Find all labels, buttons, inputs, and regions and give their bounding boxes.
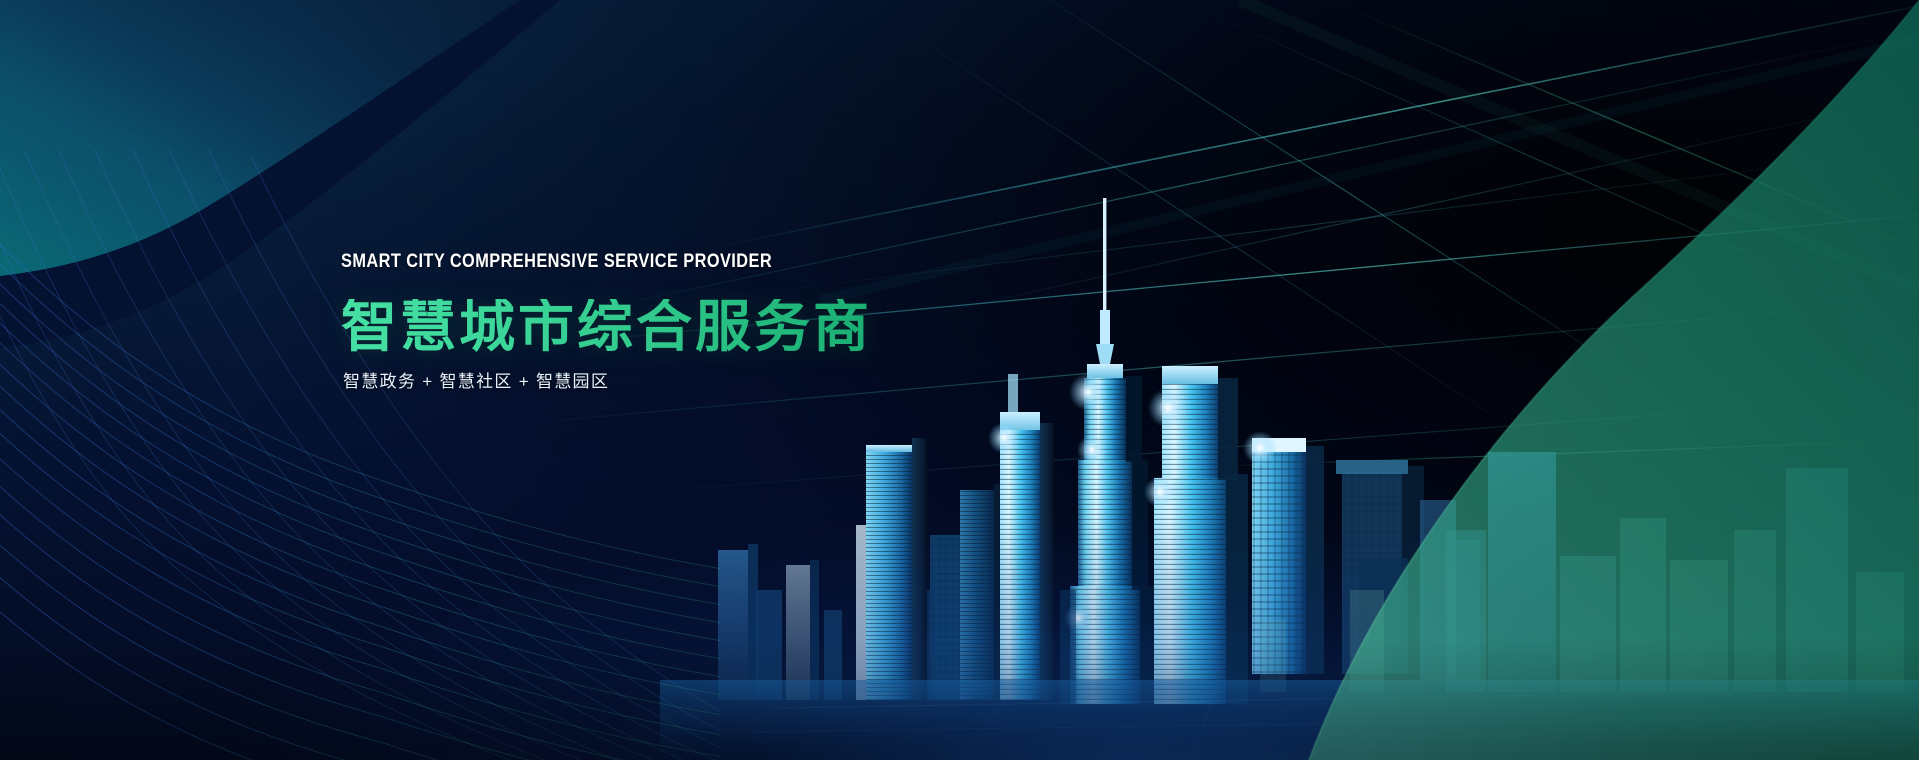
hero-eyebrow-text: SMART CITY COMPREHENSIVE SERVICE PROVIDE… [341, 252, 798, 271]
hero-text-block: SMART CITY COMPREHENSIVE SERVICE PROVIDE… [341, 252, 872, 390]
contour-mesh-decoration [0, 150, 720, 760]
midground-buildings-left [866, 438, 1006, 700]
green-curve-overlay [1159, 0, 1919, 760]
hero-headline: 智慧城市综合服务商 [341, 299, 872, 355]
smart-city-hero-banner: SMART CITY COMPREHENSIVE SERVICE PROVIDE… [0, 0, 1919, 760]
hero-subline: 智慧政务 + 智慧社区 + 智慧园区 [343, 373, 872, 390]
tower-main [1064, 198, 1156, 704]
